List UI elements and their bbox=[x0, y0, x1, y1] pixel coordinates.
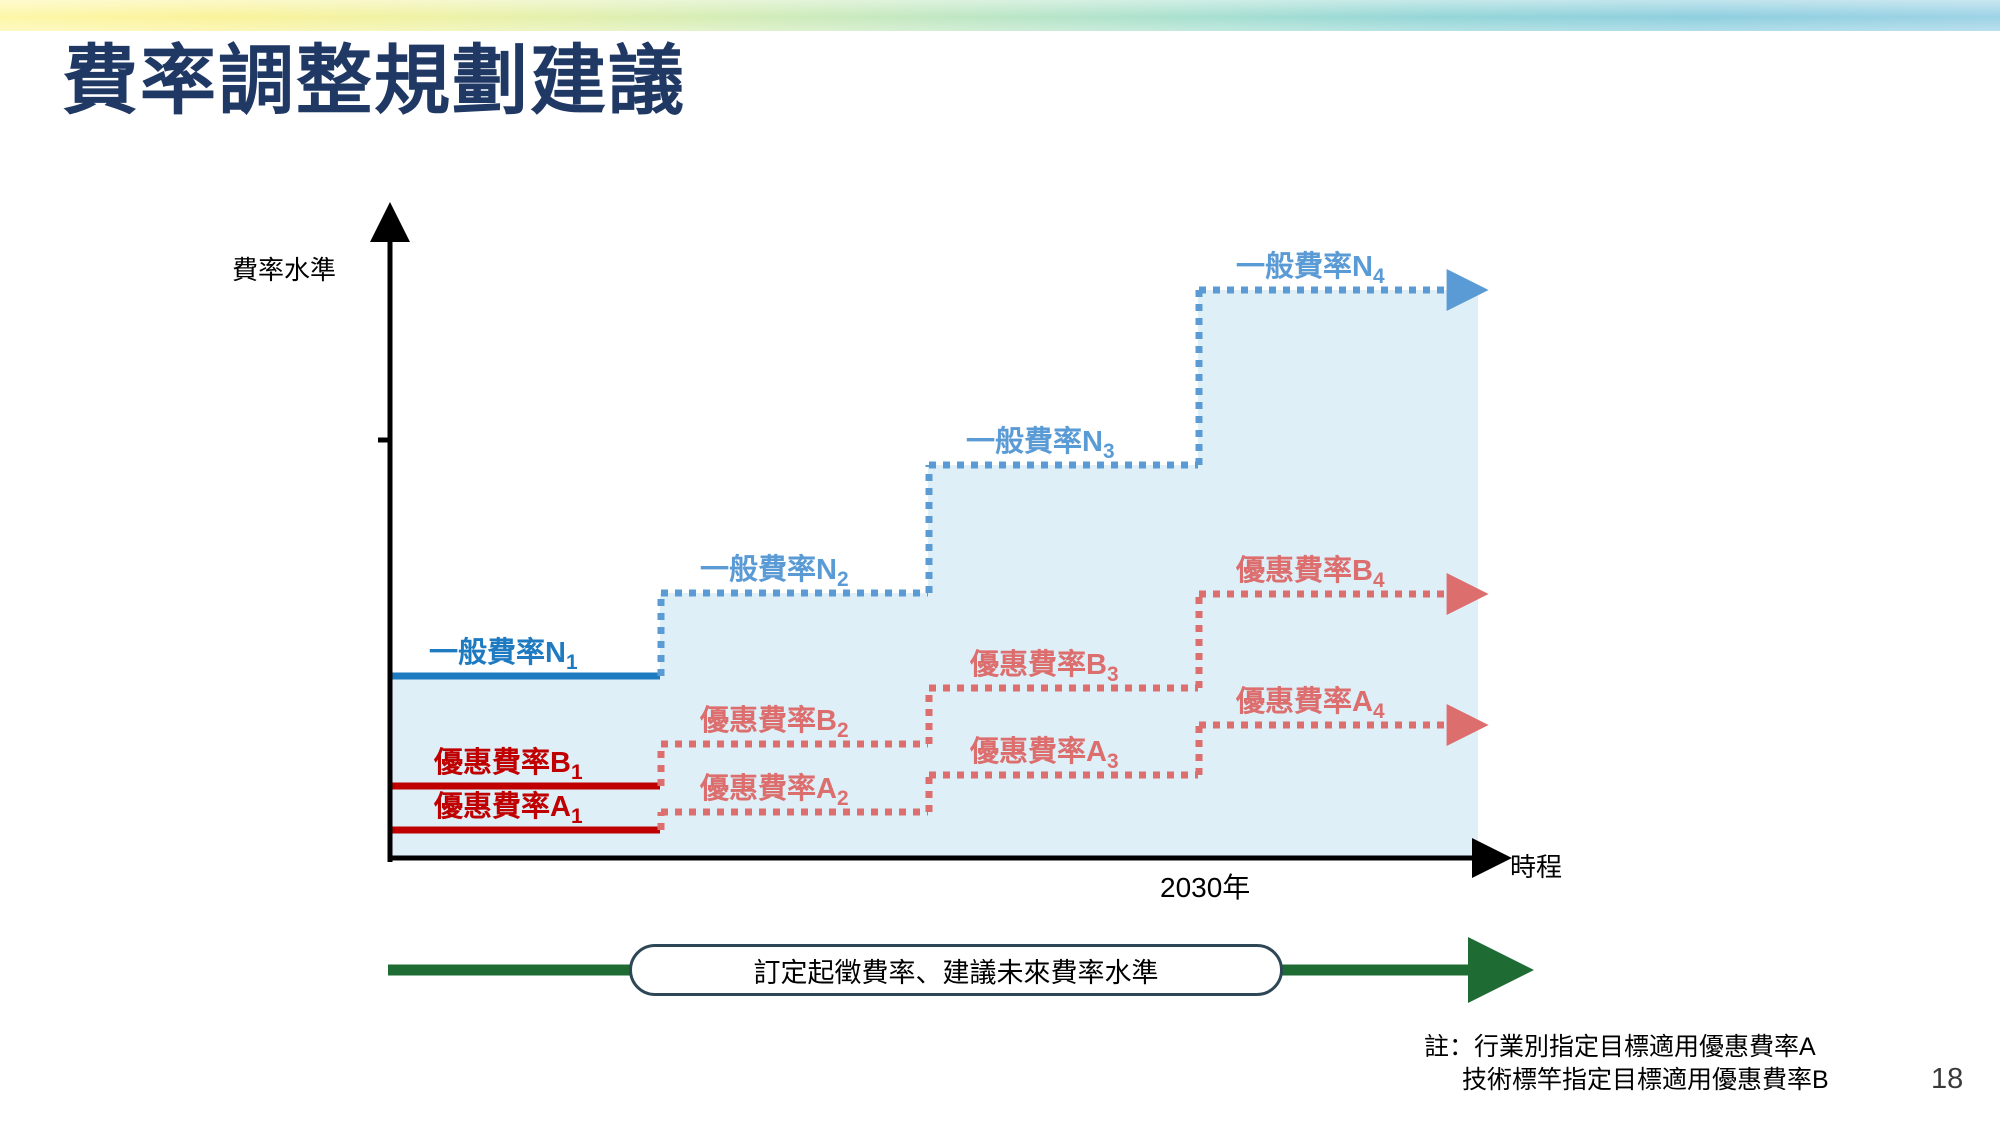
label-n4-text: 一般費率N bbox=[1236, 251, 1373, 283]
label-n3-sub: 3 bbox=[1103, 440, 1115, 463]
label-a2-text: 優惠費率A bbox=[700, 773, 837, 805]
label-b2-sub: 2 bbox=[837, 719, 849, 742]
page-number: 18 bbox=[1931, 1063, 1963, 1096]
label-b1-text: 優惠費率B bbox=[434, 747, 571, 779]
label-general-rate-n4: 一般費率N4 bbox=[1236, 253, 1385, 288]
label-a3-text: 優惠費率A bbox=[970, 736, 1107, 768]
label-general-rate-n1: 一般費率N1 bbox=[429, 639, 578, 674]
label-preferential-rate-b3: 優惠費率B3 bbox=[970, 651, 1119, 686]
label-preferential-rate-a1: 優惠費率A1 bbox=[434, 793, 583, 828]
label-a4-sub: 4 bbox=[1373, 700, 1385, 723]
label-a3-sub: 3 bbox=[1107, 750, 1119, 773]
label-n1-sub: 1 bbox=[566, 651, 578, 674]
label-n4-sub: 4 bbox=[1373, 265, 1385, 288]
x-axis-tick-label: 2030年 bbox=[1160, 866, 1250, 906]
label-a2-sub: 2 bbox=[837, 787, 849, 810]
label-a1-text: 優惠費率A bbox=[434, 791, 571, 823]
label-a4-text: 優惠費率A bbox=[1236, 686, 1373, 718]
label-preferential-rate-a2: 優惠費率A2 bbox=[700, 775, 849, 810]
process-callout-label: 訂定起徵費率、建議未來費率水準 bbox=[754, 951, 1159, 990]
label-b2-text: 優惠費率B bbox=[700, 705, 837, 737]
label-a1-sub: 1 bbox=[571, 805, 583, 828]
label-b4-text: 優惠費率B bbox=[1236, 555, 1373, 587]
label-n2-text: 一般費率N bbox=[700, 554, 837, 586]
label-preferential-rate-b2: 優惠費率B2 bbox=[700, 707, 849, 742]
label-n2-sub: 2 bbox=[837, 568, 849, 591]
label-general-rate-n2: 一般費率N2 bbox=[700, 556, 849, 591]
label-n1-text: 一般費率N bbox=[429, 637, 566, 669]
label-general-rate-n3: 一般費率N3 bbox=[966, 428, 1115, 463]
footnote: 註：行業別指定目標適用優惠費率A 技術標竿指定目標適用優惠費率B bbox=[1424, 1031, 1829, 1097]
label-preferential-rate-a4: 優惠費率A4 bbox=[1236, 688, 1385, 723]
y-axis-label: 費率水準 bbox=[232, 250, 336, 287]
label-b3-text: 優惠費率B bbox=[970, 649, 1107, 681]
label-b3-sub: 3 bbox=[1107, 663, 1119, 686]
label-b4-sub: 4 bbox=[1373, 569, 1385, 592]
x-axis-label: 時程 bbox=[1510, 847, 1562, 884]
label-preferential-rate-b4: 優惠費率B4 bbox=[1236, 557, 1385, 592]
process-callout-box: 訂定起徵費率、建議未來費率水準 bbox=[629, 944, 1283, 996]
footnote-line-2: 技術標竿指定目標適用優惠費率B bbox=[1424, 1064, 1829, 1097]
label-n3-text: 一般費率N bbox=[966, 426, 1103, 458]
label-preferential-rate-b1: 優惠費率B1 bbox=[434, 749, 583, 784]
label-b1-sub: 1 bbox=[571, 761, 583, 784]
slide-canvas: 費率調整規劃建議 bbox=[0, 0, 2000, 1125]
footnote-line-1: 註：行業別指定目標適用優惠費率A bbox=[1424, 1031, 1829, 1064]
label-preferential-rate-a3: 優惠費率A3 bbox=[970, 738, 1119, 773]
